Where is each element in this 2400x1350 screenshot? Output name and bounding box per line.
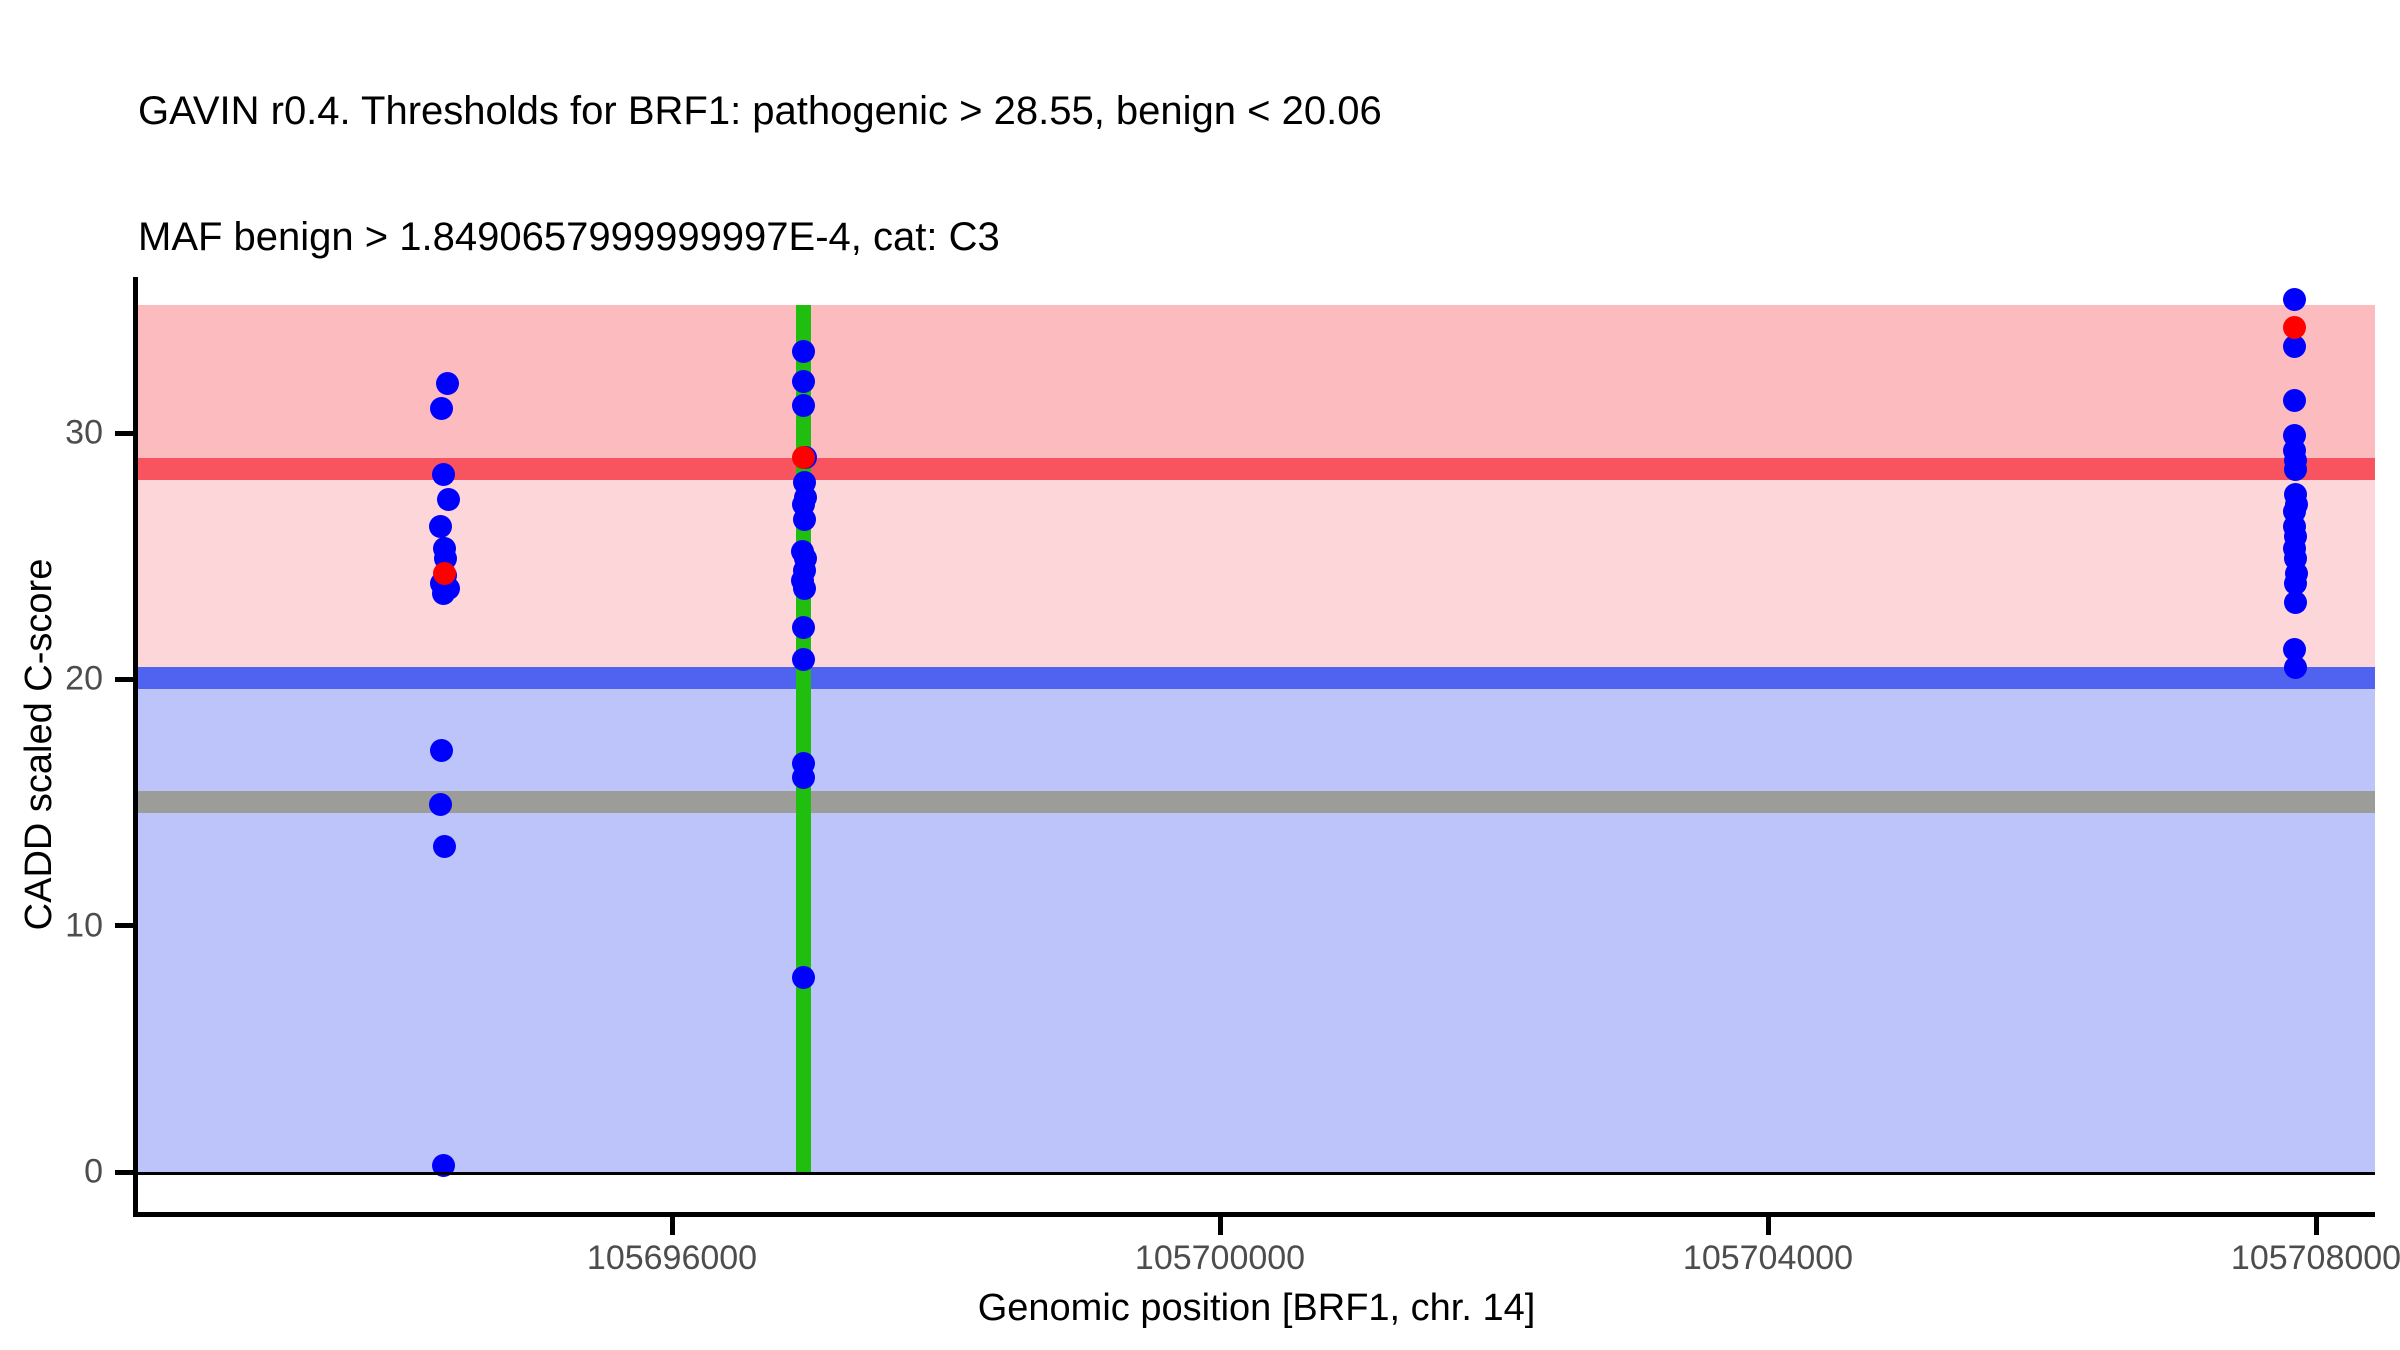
hline-pathogenic-threshold xyxy=(138,458,2375,480)
y-axis-line xyxy=(133,277,138,1212)
y-tick-mark xyxy=(115,677,133,682)
data-point xyxy=(792,370,815,393)
data-point xyxy=(433,562,456,585)
band-vous xyxy=(138,469,2375,678)
data-point xyxy=(436,372,459,395)
band-pathogenic xyxy=(138,305,2375,469)
data-point xyxy=(2283,335,2306,358)
x-tick-label: 105700000 xyxy=(1070,1239,1370,1278)
data-point xyxy=(792,966,815,989)
x-tick-mark xyxy=(1218,1217,1223,1235)
data-point xyxy=(432,582,455,605)
data-point xyxy=(2284,656,2307,679)
data-point xyxy=(2283,389,2306,412)
x-tick-mark xyxy=(2314,1217,2319,1235)
exon-marker-overlay xyxy=(796,305,811,1172)
x-tick-mark xyxy=(1766,1217,1771,1235)
hline-fallback-threshold xyxy=(138,791,2375,813)
y-tick-mark xyxy=(115,431,133,436)
plot-area xyxy=(138,305,2375,1172)
data-point xyxy=(792,648,815,671)
data-point xyxy=(793,508,816,531)
x-axis-title: Genomic position [BRF1, chr. 14] xyxy=(138,1287,2375,1330)
x-axis-line xyxy=(133,1212,2375,1217)
x-tick-label: 105696000 xyxy=(522,1239,822,1278)
data-point xyxy=(432,463,455,486)
hline-benign-threshold xyxy=(138,667,2375,689)
plot-root: GAVIN r0.4. Thresholds for BRF1: pathoge… xyxy=(0,0,2400,1350)
data-point xyxy=(429,515,452,538)
title-line-1: GAVIN r0.4. Thresholds for BRF1: pathoge… xyxy=(138,90,2338,132)
title-line-2: MAF benign > 1.8490657999999997E-4, cat:… xyxy=(138,216,2338,258)
panel-bottom-border xyxy=(138,1172,2375,1175)
x-tick-label: 105708000 xyxy=(2166,1239,2400,1278)
plot-panel: 0102030 10569600010570000010570400010570… xyxy=(138,277,2375,1212)
data-point xyxy=(2283,288,2306,311)
data-point xyxy=(793,577,816,600)
data-point xyxy=(792,446,815,469)
x-tick-mark xyxy=(670,1217,675,1235)
y-axis-title: CADD scaled C-score xyxy=(18,277,61,1212)
band-benign xyxy=(138,678,2375,1172)
x-tick-label: 105704000 xyxy=(1618,1239,1918,1278)
y-tick-mark xyxy=(115,1170,133,1175)
data-point xyxy=(792,616,815,639)
y-tick-mark xyxy=(115,923,133,928)
data-point xyxy=(2283,316,2306,339)
